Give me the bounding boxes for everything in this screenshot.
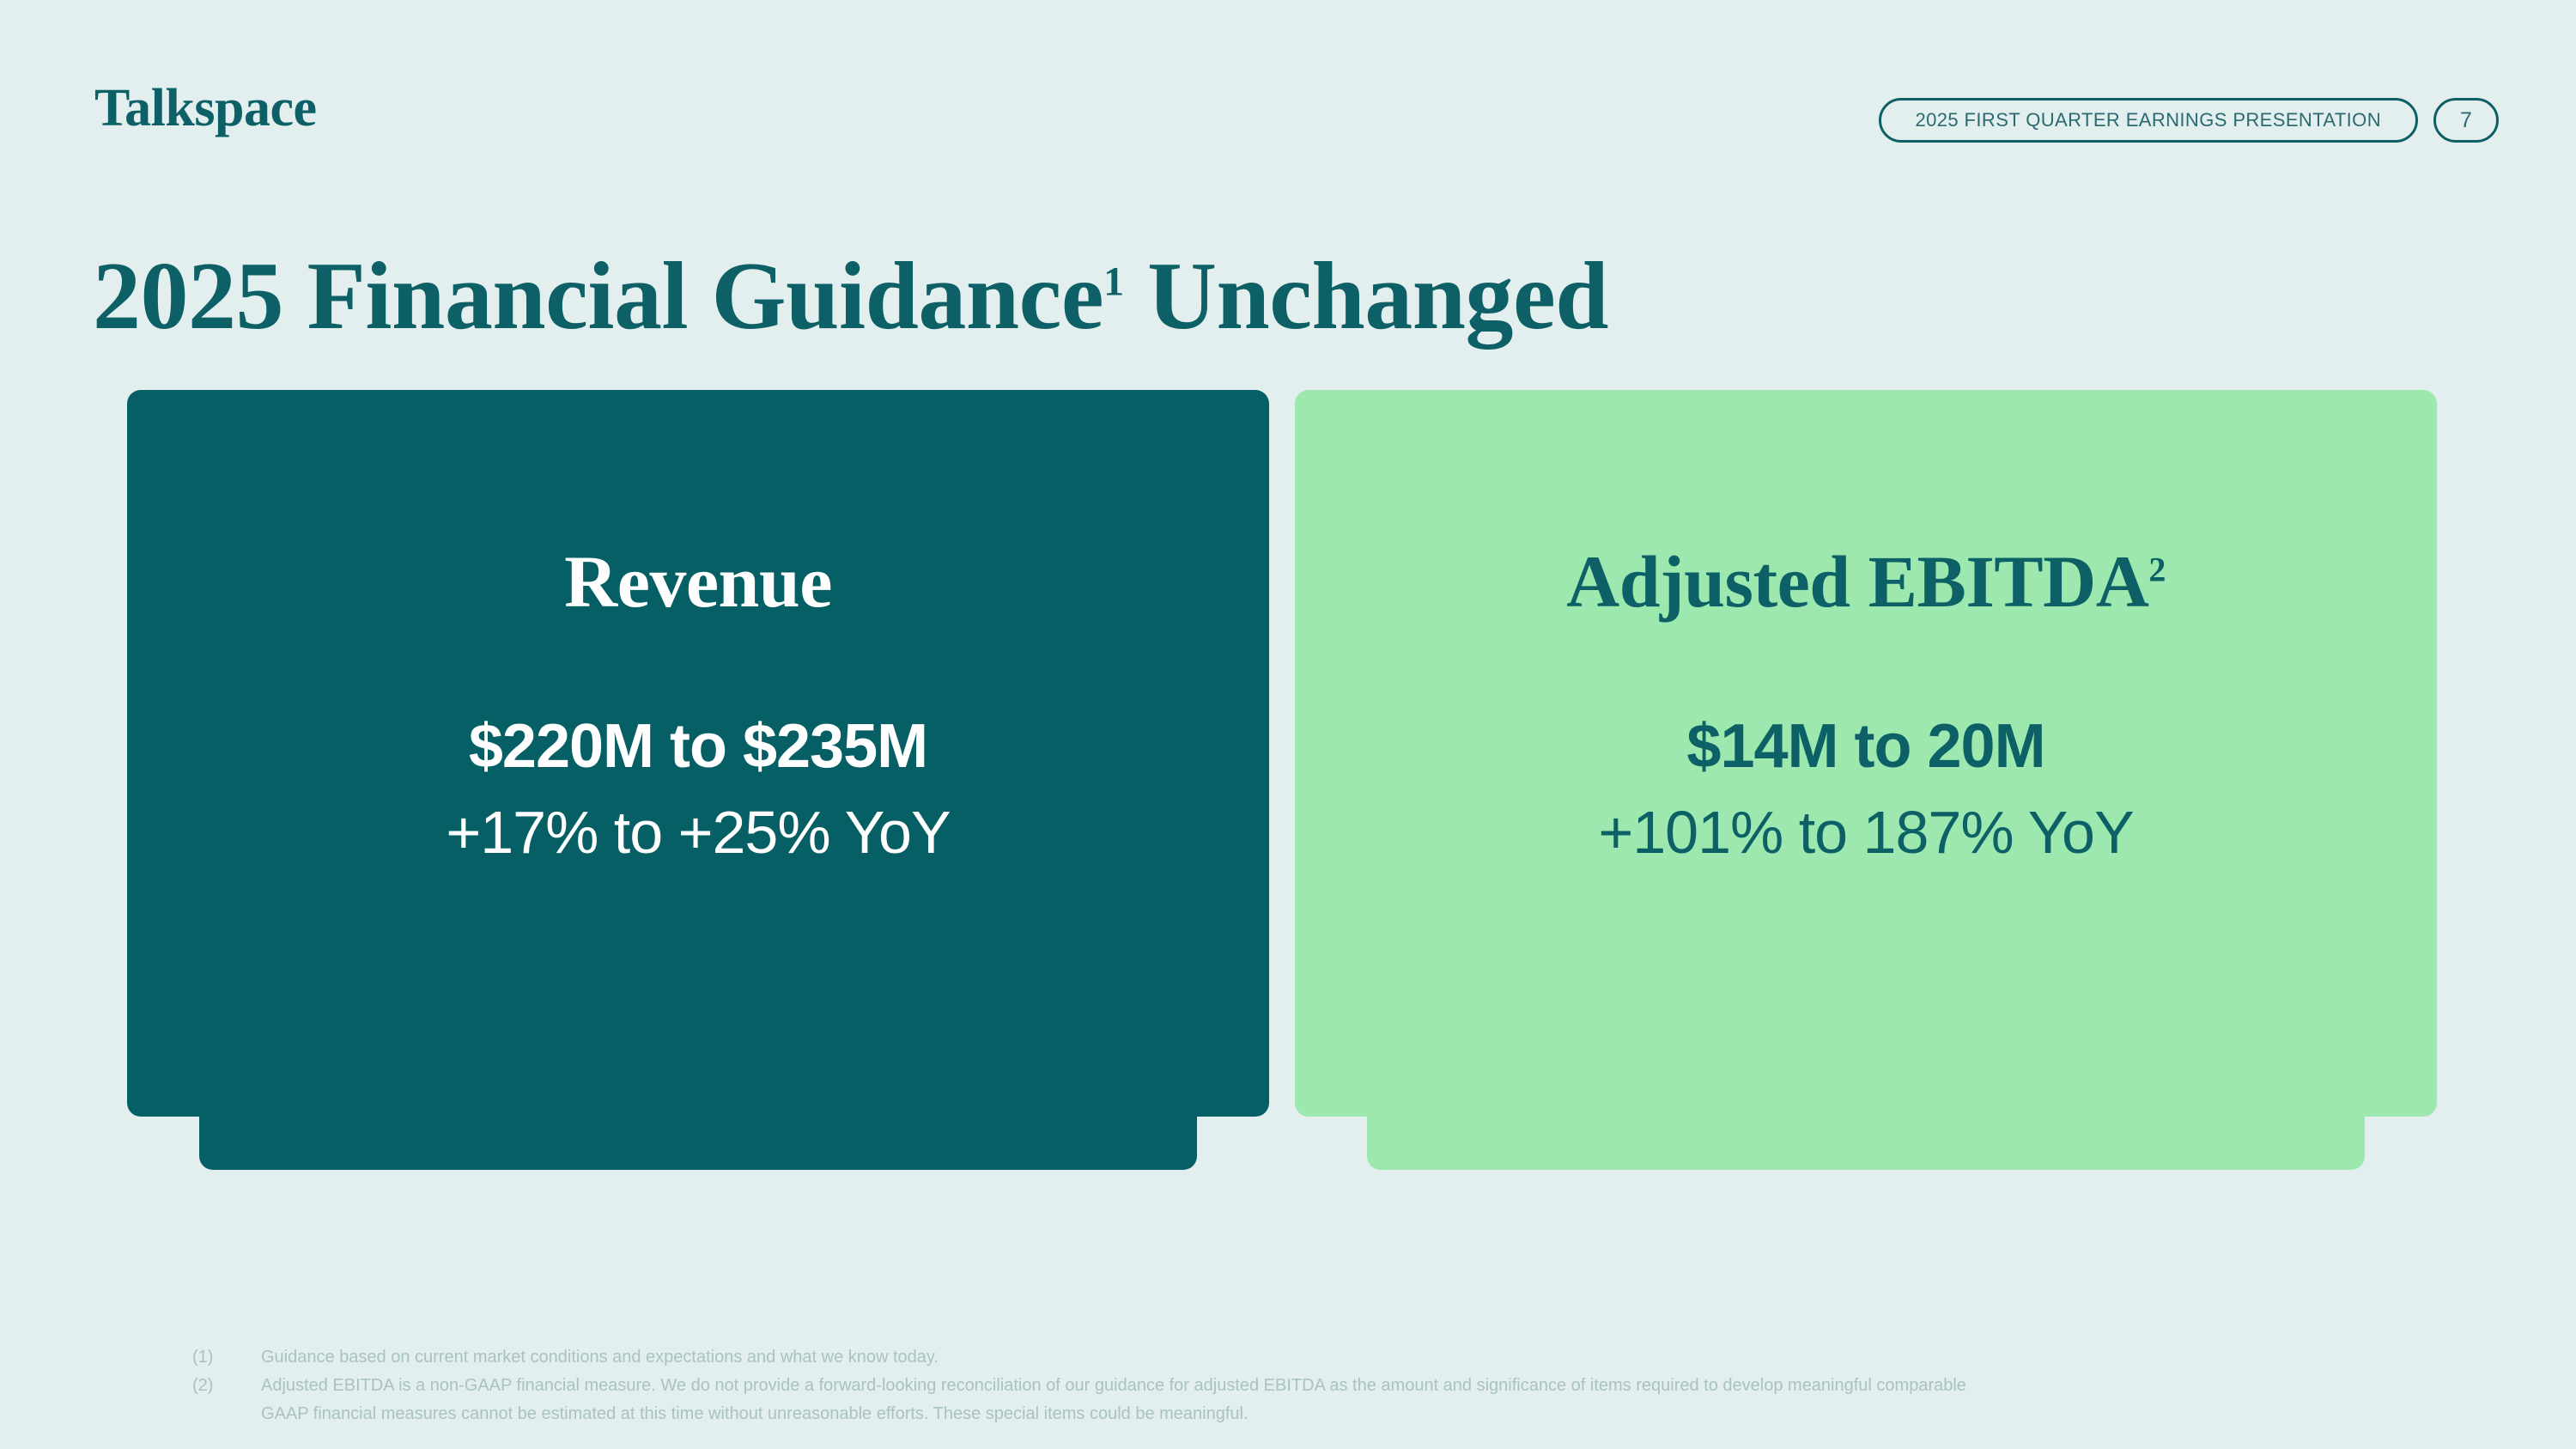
page-title-text-after: Unchanged — [1124, 243, 1608, 350]
card-heading-text: Adjusted EBITDA — [1566, 540, 2148, 623]
card-body: Revenue $220M to $235M +17% to +25% YoY — [127, 390, 1269, 1117]
guidance-card-adjusted-ebitda: Adjusted EBITDA2 $14M to 20M +101% to 18… — [1295, 390, 2437, 1117]
card-heading-footnote-marker: 2 — [2148, 550, 2166, 588]
footnote-text: Adjusted EBITDA is a non-GAAP financial … — [261, 1373, 1966, 1399]
page-title-text-before: 2025 Financial Guidance — [93, 243, 1103, 350]
page-number-badge: 7 — [2433, 98, 2499, 143]
card-heading: Adjusted EBITDA2 — [1566, 545, 2166, 618]
card-primary-value: $220M to $235M — [469, 713, 927, 781]
card-primary-value: $14M to 20M — [1686, 713, 2044, 781]
footnote-row: (2) Adjusted EBITDA is a non-GAAP financ… — [192, 1373, 2425, 1399]
deck-title-badge: 2025 FIRST QUARTER EARNINGS PRESENTATION — [1879, 98, 2419, 143]
guidance-cards-row: Revenue $220M to $235M +17% to +25% YoY … — [127, 390, 2445, 1206]
deck-title-badge-label: 2025 FIRST QUARTER EARNINGS PRESENTATION — [1916, 109, 2382, 131]
slide-header: Talkspace 2025 FIRST QUARTER EARNINGS PR… — [0, 0, 2576, 172]
footnote-marker: (1) — [192, 1344, 261, 1371]
guidance-card-revenue: Revenue $220M to $235M +17% to +25% YoY — [127, 390, 1269, 1117]
card-secondary-value: +101% to 187% YoY — [1598, 800, 2133, 866]
card-secondary-value: +17% to +25% YoY — [446, 800, 950, 866]
footnote-row: (1) Guidance based on current market con… — [192, 1344, 2425, 1371]
page-title: 2025 Financial Guidance1 Unchanged — [93, 236, 1608, 356]
header-right-group: 2025 FIRST QUARTER EARNINGS PRESENTATION… — [1879, 98, 2500, 143]
page-title-footnote-marker: 1 — [1103, 259, 1124, 305]
card-heading: Revenue — [564, 545, 832, 618]
card-heading-text: Revenue — [564, 540, 832, 623]
card-bottom-tab — [199, 1111, 1197, 1170]
card-body: Adjusted EBITDA2 $14M to 20M +101% to 18… — [1295, 390, 2437, 1117]
footnotes-block: (1) Guidance based on current market con… — [192, 1344, 2425, 1429]
footnote-row: GAAP financial measures cannot be estima… — [192, 1401, 2425, 1428]
card-bottom-tab — [1367, 1111, 2365, 1170]
footnote-text: GAAP financial measures cannot be estima… — [261, 1401, 1249, 1428]
brand-logo: Talkspace — [94, 82, 317, 135]
footnote-marker: (2) — [192, 1373, 261, 1399]
page-number-label: 7 — [2460, 108, 2472, 133]
footnote-text: Guidance based on current market conditi… — [261, 1344, 939, 1371]
